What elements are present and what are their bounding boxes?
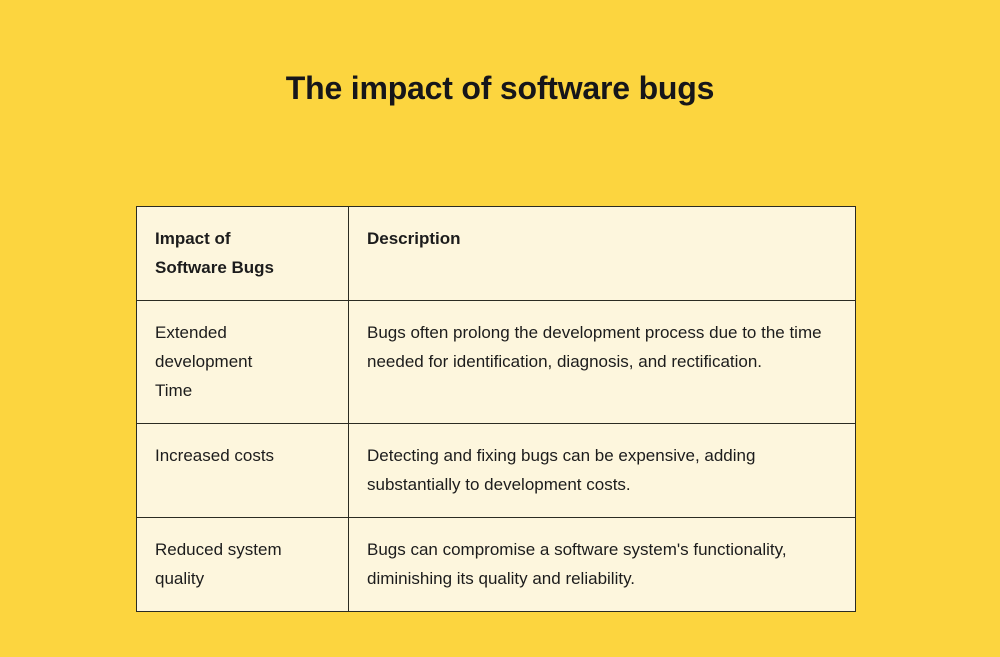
cell-description-text: Bugs often prolong the development proce…	[367, 318, 837, 376]
column-header-description-label: Description	[367, 224, 837, 253]
cell-impact-text: Reduced system quality	[155, 535, 330, 593]
column-header-description: Description	[349, 207, 856, 301]
cell-impact: Reduced system quality	[137, 518, 349, 612]
table-header-row: Impact of Software Bugs Description	[137, 207, 856, 301]
cell-description-text: Detecting and fixing bugs can be expensi…	[367, 441, 837, 499]
table-row: Extended development Time Bugs often pro…	[137, 301, 856, 424]
column-header-impact: Impact of Software Bugs	[137, 207, 349, 301]
cell-impact-text: Increased costs	[155, 441, 330, 470]
table-body: Extended development Time Bugs often pro…	[137, 301, 856, 612]
cell-description-text: Bugs can compromise a software system's …	[367, 535, 837, 593]
cell-description: Detecting and fixing bugs can be expensi…	[349, 424, 856, 518]
table-row: Increased costs Detecting and fixing bug…	[137, 424, 856, 518]
cell-impact: Extended development Time	[137, 301, 349, 424]
cell-impact-text: Extended development Time	[155, 318, 330, 405]
cell-impact: Increased costs	[137, 424, 349, 518]
table-row: Reduced system quality Bugs can compromi…	[137, 518, 856, 612]
impact-table-container: Impact of Software Bugs Description Exte…	[136, 206, 855, 612]
page-canvas: The impact of software bugs Impact of So…	[0, 0, 1000, 657]
cell-description: Bugs can compromise a software system's …	[349, 518, 856, 612]
column-header-impact-label: Impact of Software Bugs	[155, 224, 330, 282]
page-title: The impact of software bugs	[0, 66, 1000, 110]
impact-table: Impact of Software Bugs Description Exte…	[136, 206, 856, 612]
cell-description: Bugs often prolong the development proce…	[349, 301, 856, 424]
table-header: Impact of Software Bugs Description	[137, 207, 856, 301]
